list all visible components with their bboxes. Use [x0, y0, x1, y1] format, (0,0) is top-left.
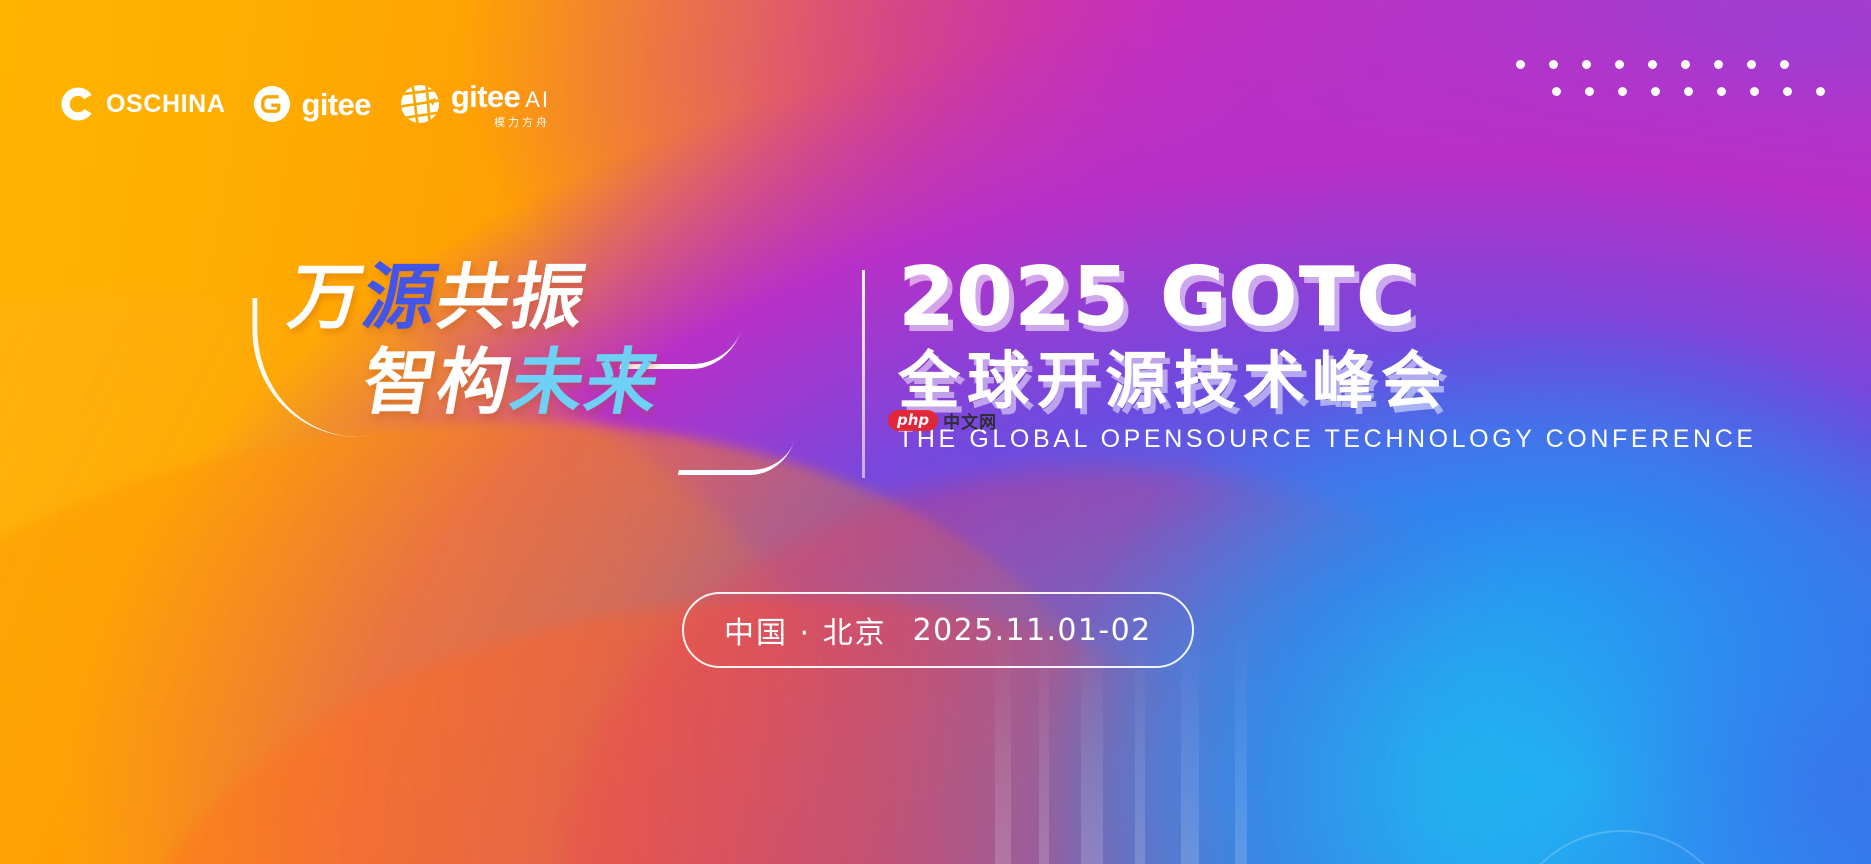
dot	[1747, 60, 1756, 69]
event-date: 2025.11.01-02	[913, 613, 1152, 648]
slogan-line2-seg2: 未来	[505, 340, 668, 424]
event-location: 中国 · 北京	[724, 608, 887, 652]
slogan-line-1: 万源共振	[283, 258, 767, 337]
slogan-line2-seg1: 智构	[357, 340, 520, 424]
dot	[1549, 60, 1558, 69]
dot-row-top	[1516, 60, 1825, 69]
dot	[1714, 60, 1723, 69]
slogan-line-2: 智构未来	[357, 343, 767, 422]
dot	[1615, 60, 1624, 69]
event-title-gotc: 2025 GOTC	[898, 258, 1598, 338]
dot	[1684, 87, 1693, 96]
gitee-ai-globe-icon	[399, 83, 441, 125]
logo-gitee[interactable]: gitee	[253, 85, 370, 123]
logo-oschina[interactable]: OSCHINA	[60, 86, 225, 122]
slogan-block: 万源共振 智构未来	[290, 258, 760, 422]
dot	[1516, 60, 1525, 69]
event-date-pill: 中国 · 北京 2025.11.01-02	[682, 592, 1194, 668]
dot	[1717, 87, 1726, 96]
logo-gitee-ai-subtitle: 模力方舟	[494, 117, 550, 128]
event-title-chinese: 全球开源技术峰会	[898, 348, 1598, 413]
logo-ai-label: AI	[525, 89, 550, 111]
dot	[1582, 60, 1591, 69]
dot	[1618, 87, 1627, 96]
dot	[1651, 87, 1660, 96]
oschina-c-icon	[60, 86, 96, 122]
dot-row-bottom	[1552, 87, 1825, 96]
logo-gitee-ai[interactable]: gitee AI 模力方舟	[399, 81, 550, 128]
event-title-english: THE GLOBAL OPENSOURCE TECHNOLOGY CONFERE…	[898, 425, 1598, 454]
dot	[1681, 60, 1690, 69]
logo-row: OSCHINA gitee	[60, 80, 550, 128]
event-title-block: 2025 GOTC 全球开源技术峰会 THE GLOBAL OPENSOURCE…	[898, 258, 1598, 454]
gitee-g-icon	[253, 85, 291, 123]
dot	[1585, 87, 1594, 96]
dot	[1780, 60, 1789, 69]
dot	[1816, 87, 1825, 96]
conference-banner: OSCHINA gitee	[0, 0, 1871, 864]
logo-oschina-label: OSCHINA	[106, 92, 225, 117]
dot	[1750, 87, 1759, 96]
decorative-dot-grid	[1516, 60, 1825, 96]
title-divider	[862, 270, 865, 478]
dot	[1648, 60, 1657, 69]
logo-gitee-label: gitee	[301, 89, 370, 120]
slogan-line1-seg3: 共振	[431, 255, 594, 339]
logo-gitee-ai-label: gitee	[451, 81, 520, 112]
gitee-ai-wordmark: gitee AI 模力方舟	[451, 81, 550, 128]
dot	[1783, 87, 1792, 96]
dot	[1552, 87, 1561, 96]
